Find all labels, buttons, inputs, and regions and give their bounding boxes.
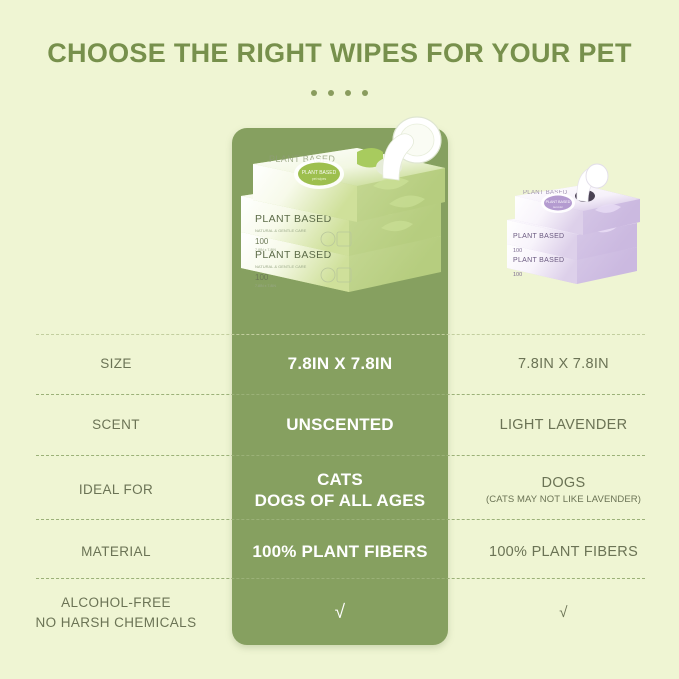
row-divider [36,519,645,520]
row-value-alt-ideal-for: DOGS (CATS MAY NOT LIKE LAVENDER) [448,474,679,506]
row-value-main-scent: UNSCENTED [232,414,448,435]
svg-text:7.8IN x 7.8IN: 7.8IN x 7.8IN [255,284,276,288]
svg-text:PLANT BASED: PLANT BASED [513,257,564,264]
title-dot-separator [0,90,679,96]
svg-text:100: 100 [255,237,269,246]
alt-ideal-for-note: (CATS MAY NOT LIKE LAVENDER) [448,494,679,506]
svg-text:NATURAL & GENTLE CARE: NATURAL & GENTLE CARE [255,228,307,233]
table-row-size: SIZE 7.8IN X 7.8IN 7.8IN X 7.8IN [0,349,679,379]
row-label-material: MATERIAL [0,542,232,562]
row-divider [36,455,645,456]
separator-dot [328,90,334,96]
svg-text:lavender: lavender [553,205,563,209]
row-label-scent: SCENT [0,415,232,435]
row-value-alt-scent: LIGHT LAVENDER [448,416,679,435]
separator-dot [311,90,317,96]
row-divider [36,578,645,579]
row-label-size: SIZE [0,354,232,374]
svg-text:PLANT BASED: PLANT BASED [302,170,337,176]
row-label-ideal-for: IDEAL FOR [0,480,232,500]
row-value-main-ideal-for: CATS DOGS OF ALL AGES [232,469,448,512]
alt-product-image: PLANT BASED 100 PLANT BASED 100 PLANT BA… [501,160,643,300]
checkmark-icon-alt: √ [448,603,679,623]
svg-text:7.8IN x 7.8IN: 7.8IN x 7.8IN [255,248,276,252]
svg-text:PLANT BASED: PLANT BASED [513,233,564,240]
checkmark-icon-main: √ [232,601,448,625]
separator-dot [345,90,351,96]
row-label-alcohol-free: ALCOHOL-FREE NO HARSH CHEMICALS [0,593,232,632]
svg-text:pet wipes: pet wipes [312,177,327,181]
table-row-alcohol-free: ALCOHOL-FREE NO HARSH CHEMICALS √ √ [0,593,679,633]
svg-text:100: 100 [513,248,522,254]
main-product-image: PLANT BASED NATURAL & GENTLE CARE 100 7.… [231,112,451,317]
svg-text:PLANT BASED: PLANT BASED [255,213,332,225]
row-divider [36,394,645,395]
svg-text:NATURAL & GENTLE CARE: NATURAL & GENTLE CARE [255,264,307,269]
row-value-main-material: 100% PLANT FIBERS [232,541,448,562]
alt-ideal-for-primary: DOGS [542,475,586,491]
page-title: CHOOSE THE RIGHT WIPES FOR YOUR PET [0,38,679,69]
row-value-alt-material: 100% PLANT FIBERS [448,543,679,562]
table-row-material: MATERIAL 100% PLANT FIBERS 100% PLANT FI… [0,537,679,567]
svg-text:100: 100 [513,272,522,278]
svg-text:100: 100 [255,273,269,282]
separator-dot [362,90,368,96]
svg-text:PLANT BASED: PLANT BASED [546,200,571,204]
row-value-main-size: 7.8IN X 7.8IN [232,353,448,374]
row-value-alt-size: 7.8IN X 7.8IN [448,355,679,374]
table-row-scent: SCENT UNSCENTED LIGHT LAVENDER [0,410,679,440]
row-divider [36,334,645,335]
table-row-ideal-for: IDEAL FOR CATS DOGS OF ALL AGES DOGS (CA… [0,468,679,512]
